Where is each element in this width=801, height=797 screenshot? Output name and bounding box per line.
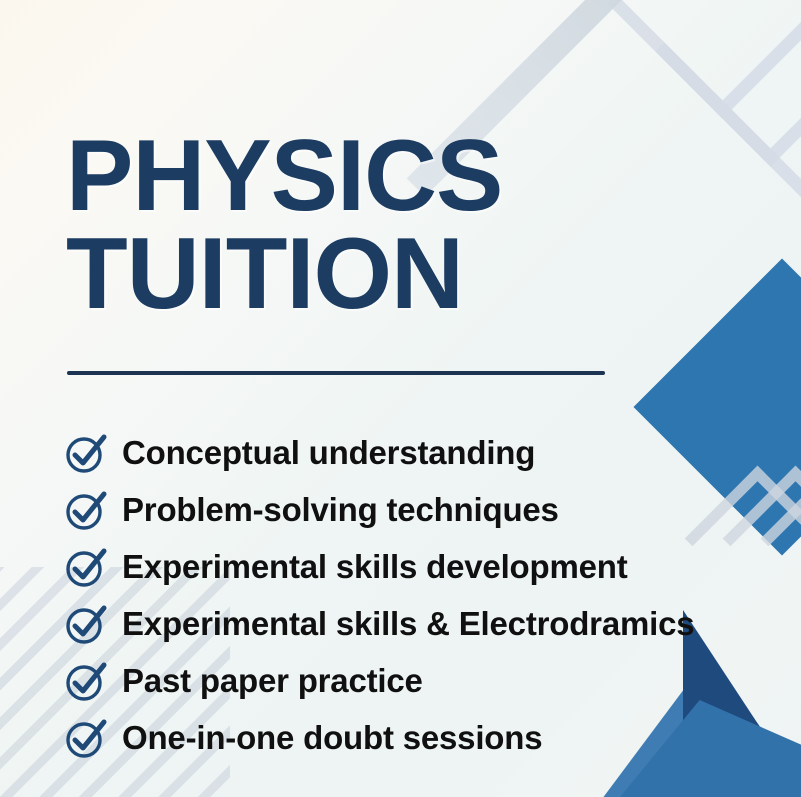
check-circle-icon bbox=[62, 600, 110, 648]
check-circle-icon bbox=[62, 543, 110, 591]
list-item: Conceptual understanding bbox=[62, 424, 801, 481]
list-item: Experimental skills & Electrodramics bbox=[62, 595, 801, 652]
list-item-label: Past paper practice bbox=[122, 664, 423, 697]
check-circle-icon bbox=[62, 657, 110, 705]
list-item-label: Experimental skills & Electrodramics bbox=[122, 607, 694, 640]
list-item-label: Conceptual understanding bbox=[122, 436, 535, 469]
list-item-label: Problem-solving techniques bbox=[122, 493, 559, 526]
page-title: PHYSICS TUITION bbox=[66, 128, 502, 324]
list-item: Past paper practice bbox=[62, 652, 801, 709]
check-circle-icon bbox=[62, 486, 110, 534]
list-item: Problem-solving techniques bbox=[62, 481, 801, 538]
check-circle-icon bbox=[62, 429, 110, 477]
list-item: One-in-one doubt sessions bbox=[62, 709, 801, 766]
title-divider bbox=[67, 371, 605, 375]
list-item-label: Experimental skills development bbox=[122, 550, 628, 583]
feature-list: Conceptual understanding Problem-solving… bbox=[62, 424, 801, 766]
list-item-label: One-in-one doubt sessions bbox=[122, 721, 542, 754]
list-item: Experimental skills development bbox=[62, 538, 801, 595]
physics-tuition-poster: PHYSICS TUITION Conceptual understanding… bbox=[0, 0, 801, 797]
check-circle-icon bbox=[62, 714, 110, 762]
